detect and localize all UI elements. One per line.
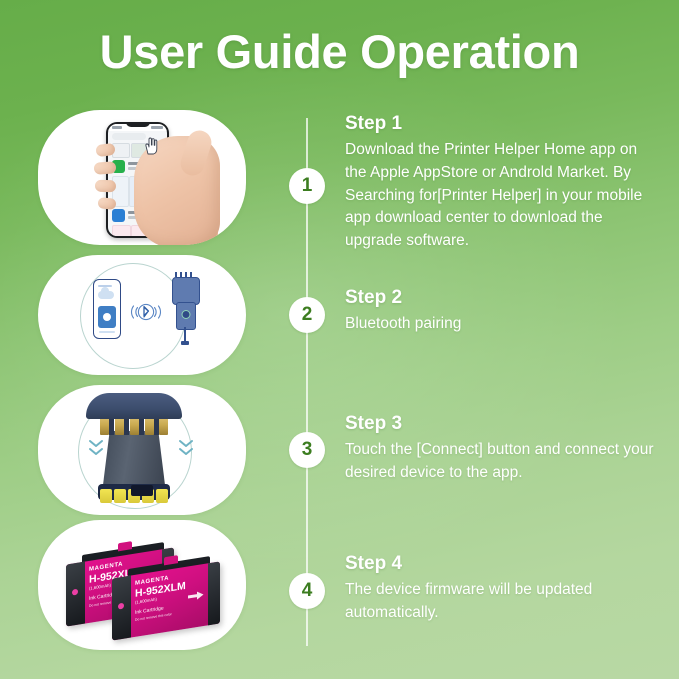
smartphone-device — [93, 279, 121, 339]
step-heading-2: Step 2 — [345, 287, 660, 309]
step-text-2: Step 2 Bluetooth pairing — [345, 287, 660, 336]
dongle-head — [172, 277, 200, 305]
status-time — [112, 126, 122, 129]
step-row-2: 2 Step 2 Bluetooth pairing — [0, 255, 679, 375]
phone-notch — [126, 122, 150, 127]
dongle-plug — [181, 341, 189, 345]
step-heading-3: Step 3 — [345, 413, 660, 435]
step-text-4: Step 4 The device firmware will be updat… — [345, 553, 660, 625]
status-battery-icon — [151, 126, 163, 129]
gold-contact — [156, 489, 168, 503]
step-heading-4: Step 4 — [345, 553, 660, 575]
step-row-3: 3 Step 3 Touch the [Connect] button and … — [0, 385, 679, 515]
cloud-icon — [98, 291, 114, 299]
chip-resetter-icon — [38, 385, 246, 515]
finger-3 — [95, 180, 116, 193]
step-text-3: Step 3 Touch the [Connect] button and co… — [345, 413, 660, 485]
chevron-down-icon — [178, 437, 194, 459]
step-badge-3: 3 — [289, 432, 325, 468]
ink-cartridges-icon: MAGENTA H-952XLM (1,600mAh) Ink Cartridg… — [38, 520, 246, 650]
hand-holding-phone-icon — [38, 110, 246, 245]
step-body-3: Touch the [Connect] button and connect y… — [345, 439, 660, 485]
cartridge-right-cap — [208, 561, 220, 625]
step-body-4: The device firmware will be updated auto… — [345, 579, 660, 625]
phone-footer-line — [99, 331, 115, 333]
device-center-pad — [131, 485, 153, 496]
dongle-body — [176, 302, 196, 330]
bluetooth-dongle-device — [172, 277, 198, 335]
step-row-1: 1 Step 1 Download the Printer Helper Hom… — [0, 110, 679, 245]
finger-2 — [94, 161, 117, 175]
bluetooth-pairing-icon — [38, 255, 246, 375]
page-title: User Guide Operation — [0, 24, 679, 79]
step-4-illustration-panel: MAGENTA H-952XLM (1,600mAh) Ink Cartridg… — [38, 520, 246, 650]
step-text-1: Step 1 Download the Printer Helper Home … — [345, 113, 660, 253]
hand-cursor-icon — [144, 137, 158, 155]
gold-contact — [114, 489, 126, 503]
step-row-4: MAGENTA H-952XLM (1,600mAh) Ink Cartridg… — [0, 520, 679, 650]
appstore-search-field — [112, 133, 146, 140]
dongle-led-indicator — [182, 310, 191, 319]
ink-cartridge-front: MAGENTA H-952XLM (1,600mAh) Ink Cartridg… — [112, 561, 220, 640]
device-top-cap — [86, 393, 182, 419]
bluetooth-signal-icon — [124, 301, 168, 323]
app-tile-icon — [98, 306, 116, 328]
step-badge-1: 1 — [289, 168, 325, 204]
chevron-down-icon — [88, 437, 104, 459]
arrow-right-icon — [188, 590, 204, 602]
app-screenshot-4 — [112, 225, 131, 236]
user-guide-poster: User Guide Operation — [0, 0, 679, 679]
step-3-illustration-panel — [38, 385, 246, 515]
app-icon-blue — [112, 209, 125, 222]
finger-4 — [97, 197, 116, 210]
step-1-illustration-panel — [38, 110, 246, 245]
step-body-2: Bluetooth pairing — [345, 313, 660, 336]
step-heading-1: Step 1 — [345, 113, 660, 135]
step-body-1: Download the Printer Helper Home app on … — [345, 139, 660, 253]
step-badge-4: 4 — [289, 573, 325, 609]
step-badge-2: 2 — [289, 297, 325, 333]
step-2-illustration-panel — [38, 255, 246, 375]
gold-contact — [100, 489, 112, 503]
